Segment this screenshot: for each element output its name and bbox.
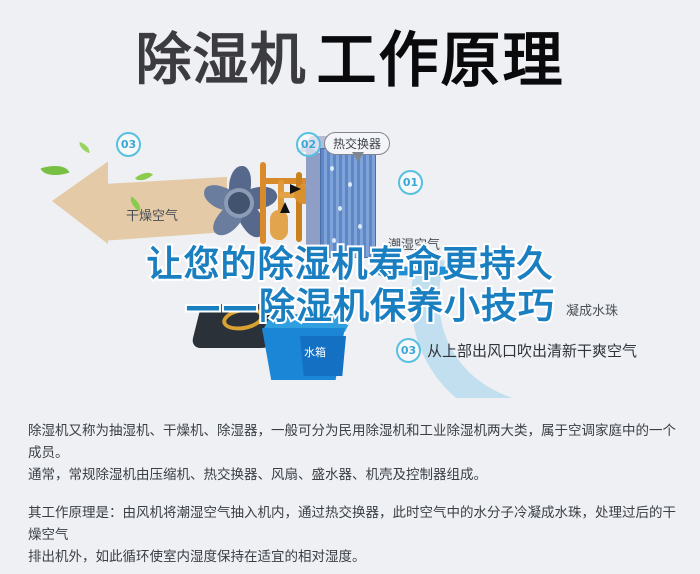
- step-3-caption: 03 从上部出风口吹出清新干爽空气: [396, 338, 637, 363]
- heat-exchanger-fins: [320, 148, 376, 258]
- paragraph-2-line-2: 排出机外，如此循环使室内湿度保持在适宜的相对湿度。: [28, 549, 366, 565]
- paragraph-1-line-2: 通常，常规除湿机由压缩机、热交换器、风扇、盛水器、机壳及控制器组成。: [28, 467, 487, 483]
- step-badge-03-caption: 03: [396, 338, 421, 363]
- flow-arrow-up-icon: [280, 202, 290, 213]
- callout-tail-icon: [352, 152, 364, 162]
- compressor-body: [270, 210, 288, 240]
- paragraph-1-line-1: 除湿机又称为抽湿机、干燥机、除湿器，一般可分为民用除湿机和工业除湿机两大类，属于…: [28, 423, 676, 461]
- page-header: 除湿机 工作原理: [0, 18, 700, 104]
- leaf-icon: [41, 160, 70, 180]
- step-badge-03: 03: [116, 132, 141, 157]
- page-title-part1: 除湿机: [136, 33, 307, 89]
- headline-line-1: 让您的除湿机寿命更持久: [0, 244, 700, 286]
- copper-pipe: [296, 172, 302, 242]
- fan-hub: [228, 192, 250, 214]
- water-droplet-icon: [358, 224, 362, 229]
- water-droplet-icon: [332, 238, 336, 243]
- paragraph-1: 除湿机又称为抽湿机、干燥机、除湿器，一般可分为民用除湿机和工业除湿机两大类，属于…: [28, 420, 676, 486]
- paragraph-2-line-1: 其工作原理是：由风机将潮湿空气抽入机内，通过热交换器，此时空气中的水分子冷凝成水…: [28, 505, 676, 543]
- water-droplet-icon: [338, 206, 342, 211]
- step-badge-02: 02: [296, 132, 321, 157]
- water-droplet-icon: [348, 182, 352, 187]
- step-3-caption-text: 从上部出风口吹出清新干爽空气: [427, 340, 637, 361]
- water-tank-label: 水箱: [304, 344, 326, 360]
- dry-air-label: 干燥空气: [126, 205, 178, 224]
- page-title-part2: 工作原理: [317, 31, 565, 91]
- body-copy: 除湿机又称为抽湿机、干燥机、除湿器，一般可分为民用除湿机和工业除湿机两大类，属于…: [28, 420, 676, 574]
- dehumidifier-infographic-page: 除湿机 工作原理: [0, 0, 700, 566]
- water-droplet-icon: [330, 166, 334, 171]
- paragraph-2: 其工作原理是：由风机将潮湿空气抽入机内，通过热交换器，此时空气中的水分子冷凝成水…: [28, 502, 676, 568]
- condensation-label: 凝成水珠: [566, 300, 618, 319]
- flow-arrow-right-icon: [290, 184, 301, 194]
- heat-exchanger-graphic: [318, 148, 380, 254]
- leaf-icon: [77, 142, 92, 153]
- copper-pipe: [260, 162, 266, 244]
- step-badge-01: 01: [398, 170, 423, 195]
